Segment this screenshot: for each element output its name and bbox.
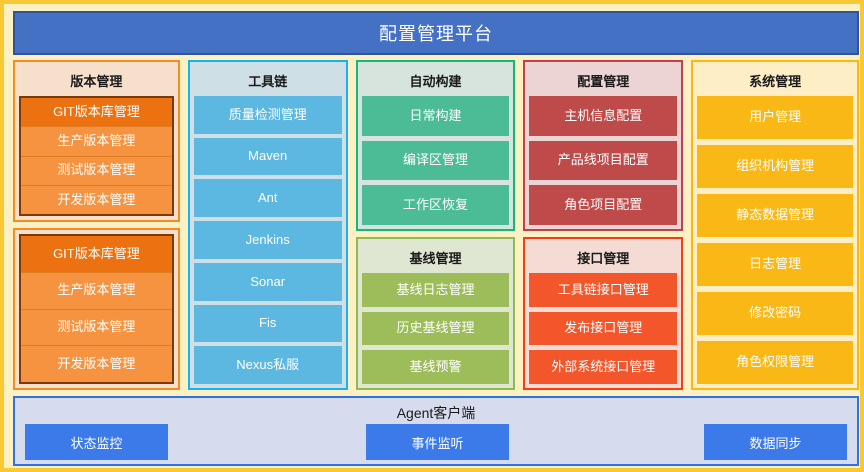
item-static-data-management[interactable]: 静态数据管理 [697, 194, 853, 237]
group-auto-build: 自动构建 日常构建 编译区管理 工作区恢复 [356, 60, 516, 231]
item-log-management[interactable]: 日志管理 [697, 243, 853, 286]
agent-button-status-monitor[interactable]: 状态监控 [25, 424, 168, 460]
item-user-management[interactable]: 用户管理 [697, 96, 853, 139]
agent-client-buttons: 状态监控 事件监听 数据同步 [25, 424, 847, 462]
item-sonar[interactable]: Sonar [194, 263, 342, 301]
item-historical-baseline-management[interactable]: 历史基线管理 [362, 312, 510, 346]
item-production-version-management[interactable]: 生产版本管理 [21, 273, 172, 310]
item-quality-inspection-management[interactable]: 质量检测管理 [194, 96, 342, 134]
group-items: 日常构建 编译区管理 工作区恢复 [362, 96, 510, 225]
item-jenkins[interactable]: Jenkins [194, 221, 342, 259]
column-config-and-interface: 配置管理 主机信息配置 产品线项目配置 角色项目配置 接口管理 工具链接口管理 … [523, 60, 683, 390]
page-title-label: 配置管理平台 [379, 20, 493, 46]
column-toolchain: 工具链 质量检测管理 Maven Ant Jenkins Sonar Fis N… [188, 60, 348, 390]
item-product-line-project-config[interactable]: 产品线项目配置 [529, 141, 677, 181]
configuration-management-platform-diagram: 配置管理平台 版本管理 GIT版本库管理 生产版本管理 测试版本管理 开发版本管… [0, 0, 864, 472]
item-change-password[interactable]: 修改密码 [697, 292, 853, 335]
group-toolchain: 工具链 质量检测管理 Maven Ant Jenkins Sonar Fis N… [188, 60, 348, 390]
group-title: 基线管理 [362, 243, 510, 273]
column-auto-build-and-baseline: 自动构建 日常构建 编译区管理 工作区恢复 基线管理 基线日志管理 历史基线管理… [356, 60, 516, 390]
column-system-management: 系统管理 用户管理 组织机构管理 静态数据管理 日志管理 修改密码 角色权限管理 [691, 60, 859, 390]
group-title: 自动构建 [362, 66, 510, 96]
group-title: 接口管理 [529, 243, 677, 273]
group-items: GIT版本库管理 生产版本管理 测试版本管理 开发版本管理 [19, 96, 174, 216]
agent-client-bar: Agent客户端 状态监控 事件监听 数据同步 [13, 396, 859, 466]
item-nexus-private-repo[interactable]: Nexus私服 [194, 346, 342, 384]
item-daily-build[interactable]: 日常构建 [362, 96, 510, 136]
group-title: 配置管理 [529, 66, 677, 96]
column-version-management: 版本管理 GIT版本库管理 生产版本管理 测试版本管理 开发版本管理 GIT版本… [13, 60, 180, 390]
item-toolchain-interface-management[interactable]: 工具链接口管理 [529, 273, 677, 307]
item-compile-zone-management[interactable]: 编译区管理 [362, 141, 510, 181]
group-interface-management: 接口管理 工具链接口管理 发布接口管理 外部系统接口管理 [523, 237, 683, 390]
group-items: 质量检测管理 Maven Ant Jenkins Sonar Fis Nexus… [194, 96, 342, 384]
item-dev-version-management[interactable]: 开发版本管理 [21, 346, 172, 382]
item-release-interface-management[interactable]: 发布接口管理 [529, 312, 677, 346]
item-git-repo-management[interactable]: GIT版本库管理 [21, 236, 172, 273]
group-baseline-management: 基线管理 基线日志管理 历史基线管理 基线预警 [356, 237, 516, 390]
group-config-management: 配置管理 主机信息配置 产品线项目配置 角色项目配置 [523, 60, 683, 231]
item-test-version-management[interactable]: 测试版本管理 [21, 157, 172, 186]
group-title: 版本管理 [19, 66, 174, 96]
item-baseline-log-management[interactable]: 基线日志管理 [362, 273, 510, 307]
item-baseline-alert[interactable]: 基线预警 [362, 350, 510, 384]
group-items: 工具链接口管理 发布接口管理 外部系统接口管理 [529, 273, 677, 384]
item-external-system-interface-management[interactable]: 外部系统接口管理 [529, 350, 677, 384]
group-version-management-1: 版本管理 GIT版本库管理 生产版本管理 测试版本管理 开发版本管理 [13, 60, 180, 222]
item-host-info-config[interactable]: 主机信息配置 [529, 96, 677, 136]
item-role-permission-management[interactable]: 角色权限管理 [697, 341, 853, 384]
item-fis[interactable]: Fis [194, 305, 342, 343]
group-items: 基线日志管理 历史基线管理 基线预警 [362, 273, 510, 384]
item-workspace-recovery[interactable]: 工作区恢复 [362, 185, 510, 225]
item-test-version-management[interactable]: 测试版本管理 [21, 310, 172, 347]
group-version-management-2: GIT版本库管理 生产版本管理 测试版本管理 开发版本管理 [13, 228, 180, 390]
agent-button-event-listener[interactable]: 事件监听 [366, 424, 509, 460]
item-organization-management[interactable]: 组织机构管理 [697, 145, 853, 188]
page-title: 配置管理平台 [13, 11, 859, 55]
item-ant[interactable]: Ant [194, 179, 342, 217]
item-maven[interactable]: Maven [194, 138, 342, 176]
group-system-management: 系统管理 用户管理 组织机构管理 静态数据管理 日志管理 修改密码 角色权限管理 [691, 60, 859, 390]
group-title: 系统管理 [697, 66, 853, 96]
group-items: 主机信息配置 产品线项目配置 角色项目配置 [529, 96, 677, 225]
group-items: 用户管理 组织机构管理 静态数据管理 日志管理 修改密码 角色权限管理 [697, 96, 853, 384]
agent-button-data-sync[interactable]: 数据同步 [704, 424, 847, 460]
item-dev-version-management[interactable]: 开发版本管理 [21, 186, 172, 214]
item-role-project-config[interactable]: 角色项目配置 [529, 185, 677, 225]
group-items: GIT版本库管理 生产版本管理 测试版本管理 开发版本管理 [19, 234, 174, 384]
group-title: 工具链 [194, 66, 342, 96]
agent-client-title: Agent客户端 [15, 398, 857, 422]
module-columns: 版本管理 GIT版本库管理 生产版本管理 测试版本管理 开发版本管理 GIT版本… [13, 60, 859, 390]
item-production-version-management[interactable]: 生产版本管理 [21, 127, 172, 156]
item-git-repo-management[interactable]: GIT版本库管理 [21, 98, 172, 127]
